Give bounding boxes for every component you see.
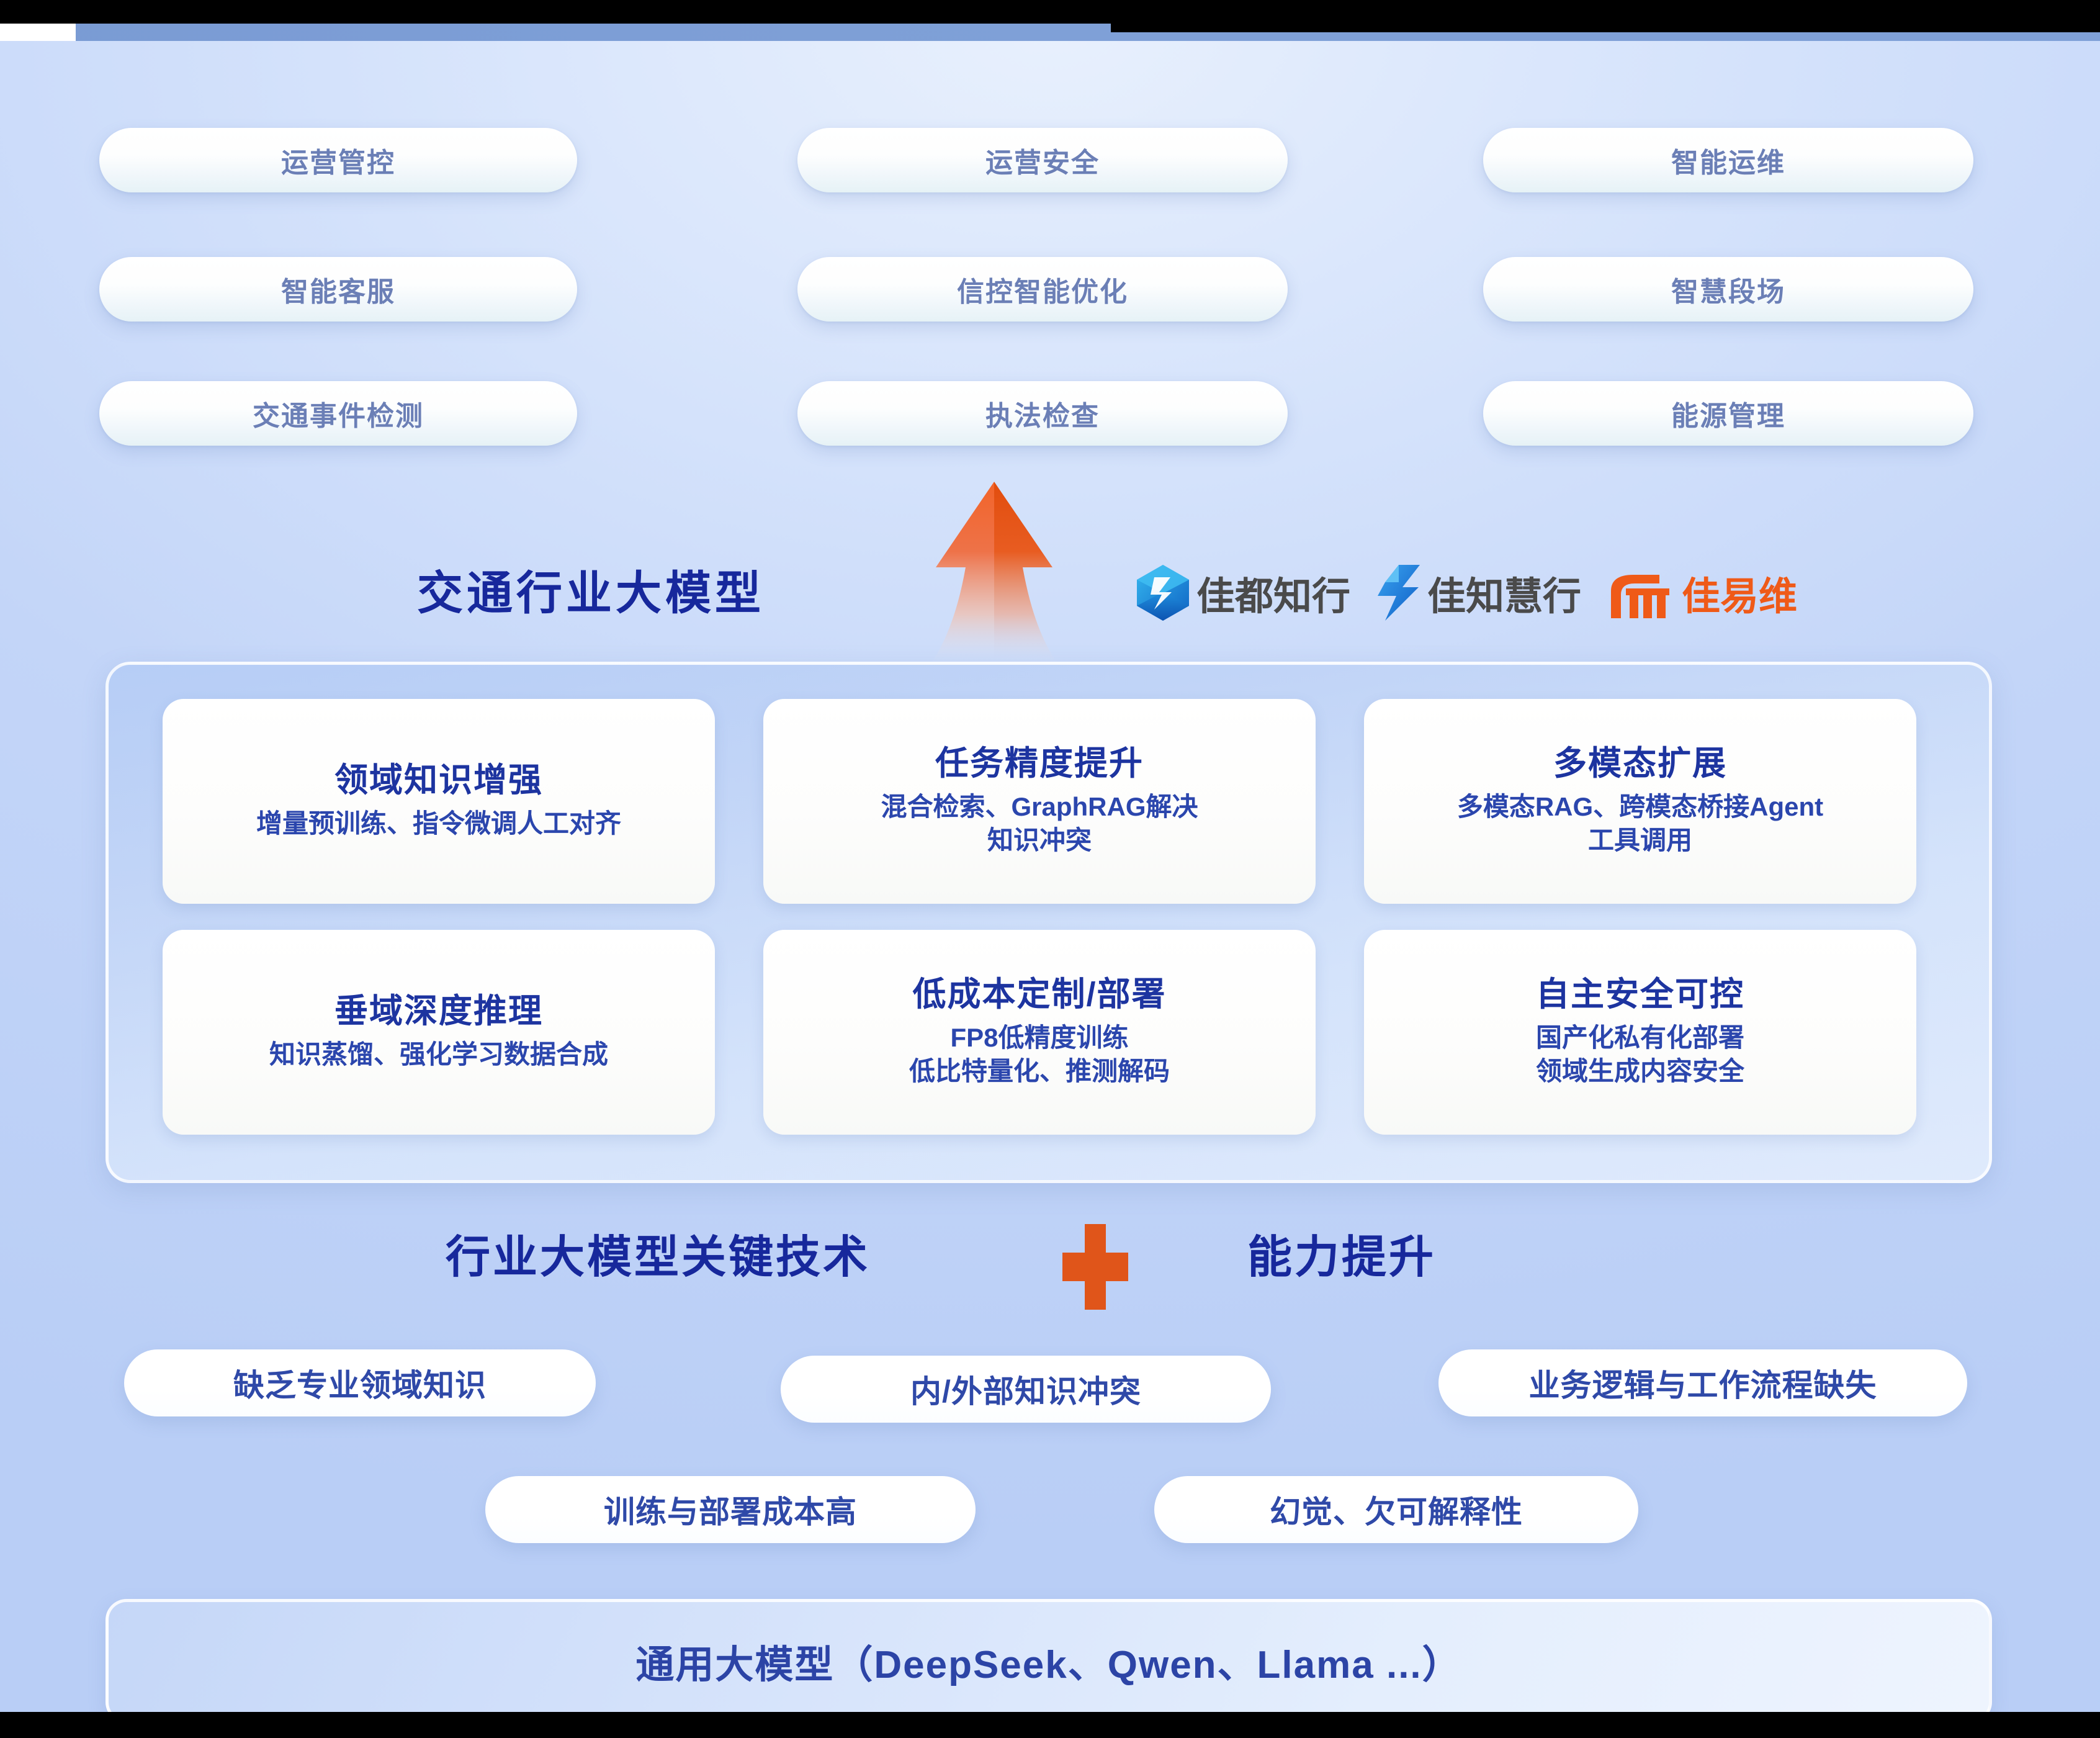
logo-label: 佳知慧行: [1427, 565, 1581, 621]
logo-jiadu-zhixing: 佳都知行: [1136, 564, 1350, 622]
upward-arrow-icon: [913, 475, 1075, 668]
limitation-pill-label: 缺乏专业领域知识: [233, 1361, 487, 1405]
app-pill-label: 运营管控: [281, 140, 395, 180]
tech-card[interactable]: 自主安全可控 国产化私有化部署领域生成内容安全: [1364, 930, 1916, 1135]
tech-card[interactable]: 垂域深度推理 知识蒸馏、强化学习数据合成: [163, 930, 715, 1135]
app-pill-label: 交通事件检测: [253, 394, 424, 433]
app-pill-label: 智能客服: [281, 269, 395, 309]
header-strip-notch: [0, 24, 76, 41]
app-pill-label: 能源管理: [1671, 394, 1785, 433]
tech-card-title: 领域知识增强: [334, 762, 543, 798]
base-model-label: 通用大模型（DeepSeek、Qwen、Llama ...）: [635, 1633, 1461, 1689]
app-pill-执法检查[interactable]: 执法检查: [797, 381, 1288, 446]
tech-card-title: 任务精度提升: [935, 745, 1144, 781]
tech-card[interactable]: 低成本定制/部署 FP8低精度训练低比特量化、推测解码: [763, 930, 1316, 1135]
limitation-pill-训练与部署成本高[interactable]: 训练与部署成本高: [485, 1476, 976, 1543]
tech-card-desc: FP8低精度训练低比特量化、推测解码: [909, 1021, 1170, 1088]
tech-card-title: 自主安全可控: [1536, 976, 1744, 1012]
tech-card-title: 低成本定制/部署: [912, 976, 1166, 1012]
limitation-pill-label: 幻觉、欠可解释性: [1270, 1487, 1523, 1532]
capability-label: 能力提升: [1247, 1220, 1436, 1285]
logo-label: 佳易维: [1682, 565, 1797, 621]
limitation-pill-幻觉欠可解释性[interactable]: 幻觉、欠可解释性: [1154, 1476, 1638, 1543]
slide-canvas: 运营管控 运营安全 智能运维 智能客服 信控智能优化 智慧段场 交通事件检测 执…: [0, 24, 2100, 1712]
app-pill-信控智能优化[interactable]: 信控智能优化: [797, 257, 1288, 322]
tech-card-title: 垂域深度推理: [334, 993, 543, 1029]
tech-card-desc: 多模态RAG、跨模态桥接Agent工具调用: [1457, 790, 1823, 857]
tech-card-title: 多模态扩展: [1553, 745, 1727, 781]
tech-card[interactable]: 多模态扩展 多模态RAG、跨模态桥接Agent工具调用: [1364, 699, 1916, 904]
limitation-pill-label: 业务逻辑与工作流程缺失: [1529, 1361, 1877, 1405]
tech-card-desc: 知识蒸馏、强化学习数据合成: [269, 1038, 608, 1071]
app-pill-运营管控[interactable]: 运营管控: [99, 128, 577, 192]
app-pill-label: 信控智能优化: [957, 269, 1128, 309]
tech-card[interactable]: 任务精度提升 混合检索、GraphRAG解决知识冲突: [763, 699, 1316, 904]
app-pill-智能客服[interactable]: 智能客服: [99, 257, 577, 322]
app-pill-label: 执法检查: [985, 394, 1100, 433]
app-pill-智慧段场[interactable]: 智慧段场: [1483, 257, 1973, 322]
app-pill-label: 运营安全: [985, 140, 1100, 180]
logo-jiazhi-huixing: 佳知慧行: [1371, 564, 1581, 622]
arch-mark-icon: [1602, 566, 1676, 619]
bolt-mark-icon: [1371, 564, 1421, 622]
base-model-bar[interactable]: 通用大模型（DeepSeek、Qwen、Llama ...）: [105, 1599, 1992, 1712]
app-pill-交通事件检测[interactable]: 交通事件检测: [99, 381, 577, 446]
app-pill-label: 智慧段场: [1671, 269, 1785, 309]
tech-panel: 领域知识增强 增量预训练、指令微调人工对齐 任务精度提升 混合检索、GraphR…: [105, 662, 1992, 1183]
tech-card-desc: 国产化私有化部署领域生成内容安全: [1536, 1021, 1744, 1088]
tech-card-desc: 增量预训练、指令微调人工对齐: [256, 807, 621, 840]
app-pill-能源管理[interactable]: 能源管理: [1483, 381, 1973, 446]
app-pill-智能运维[interactable]: 智能运维: [1483, 128, 1973, 192]
limitation-pill-缺乏专业领域知识[interactable]: 缺乏专业领域知识: [124, 1349, 596, 1416]
tech-card-desc: 混合检索、GraphRAG解决知识冲突: [881, 790, 1198, 857]
tech-card[interactable]: 领域知识增强 增量预训练、指令微调人工对齐: [163, 699, 715, 904]
logo-row: 佳都知行 佳知慧行: [1136, 564, 1797, 622]
key-tech-label: 行业大模型关键技术: [446, 1220, 870, 1285]
diamond-mark-icon: [1136, 564, 1190, 622]
limitation-pill-内外部知识冲突[interactable]: 内/外部知识冲突: [781, 1356, 1271, 1423]
logo-jiayiwei: 佳易维: [1602, 565, 1797, 621]
header-strip-notch-right: [1111, 24, 2100, 32]
page-title: 交通行业大模型: [417, 556, 765, 623]
logo-label: 佳都知行: [1196, 565, 1350, 621]
limitation-pill-业务逻辑与工作流程缺失[interactable]: 业务逻辑与工作流程缺失: [1438, 1349, 1967, 1416]
app-pill-运营安全[interactable]: 运营安全: [797, 128, 1288, 192]
plus-icon: [1049, 1220, 1142, 1313]
limitation-pill-label: 内/外部知识冲突: [910, 1367, 1141, 1412]
limitation-pill-label: 训练与部署成本高: [604, 1487, 857, 1532]
app-pill-label: 智能运维: [1671, 140, 1785, 180]
